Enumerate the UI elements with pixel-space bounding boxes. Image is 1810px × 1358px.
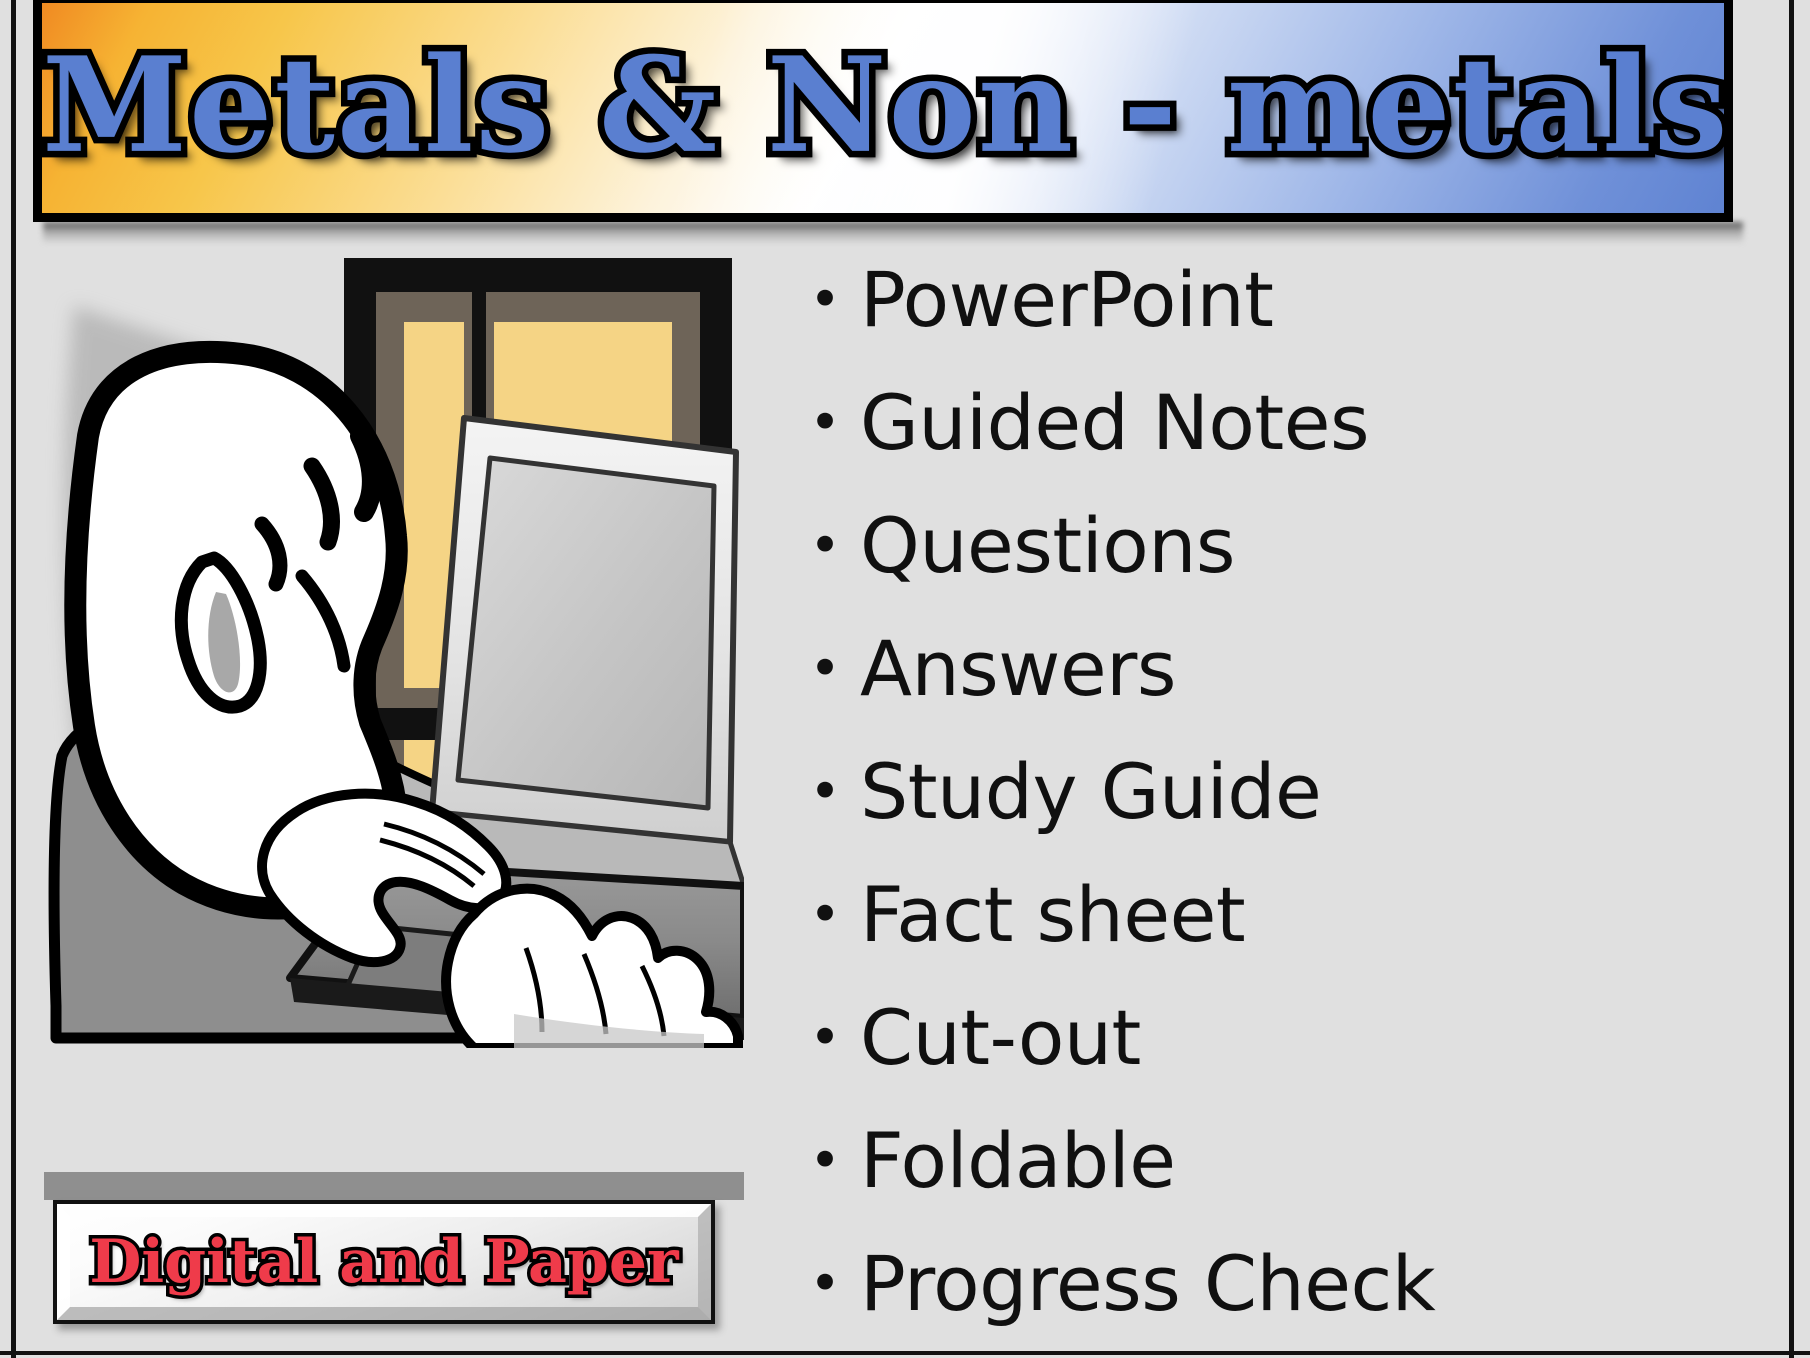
list-item: • Cut-out <box>790 984 1780 1092</box>
contents-list: • PowerPoint • Guided Notes • Questions … <box>790 222 1780 1352</box>
list-item-label: Study Guide <box>860 754 1321 830</box>
list-item-label: Fact sheet <box>860 877 1245 953</box>
page-border-bottom <box>0 1351 1810 1355</box>
list-item: • Questions <box>790 492 1780 600</box>
digital-and-paper-badge: Digital and Paper <box>53 1200 715 1324</box>
list-item: • Fact sheet <box>790 861 1780 969</box>
title-banner: Metals & Non - metals <box>33 0 1733 222</box>
list-item: • Foldable <box>790 1107 1780 1215</box>
illustration-person-typing-on-laptop <box>44 236 744 1048</box>
bullet-dot-icon: • <box>790 273 860 327</box>
list-item-label: Answers <box>860 631 1176 707</box>
list-item-label: Cut-out <box>860 1000 1141 1076</box>
list-item-label: Questions <box>860 508 1235 584</box>
list-item-label: PowerPoint <box>860 262 1273 338</box>
list-item: • Answers <box>790 615 1780 723</box>
list-item: • Guided Notes <box>790 369 1780 477</box>
desk-edge-bar <box>44 1172 744 1200</box>
poster-root: Metals & Non - metals <box>0 0 1810 1358</box>
bullet-dot-icon: • <box>790 519 860 573</box>
list-item: • Study Guide <box>790 738 1780 846</box>
bullet-dot-icon: • <box>790 1134 860 1188</box>
list-item-label: Progress Check <box>860 1246 1435 1322</box>
illustration-svg <box>44 236 744 1048</box>
bullet-dot-icon: • <box>790 396 860 450</box>
page-title: Metals & Non - metals <box>42 40 1724 171</box>
bullet-dot-icon: • <box>790 1011 860 1065</box>
page-border-right <box>1789 0 1794 1358</box>
list-item: • PowerPoint <box>790 246 1780 354</box>
list-item-label: Foldable <box>860 1123 1176 1199</box>
laptop-screen <box>458 458 714 808</box>
status-badge: Digital and Paper <box>57 1204 711 1320</box>
list-item: • Progress Check <box>790 1230 1780 1338</box>
page-border-left <box>11 0 16 1358</box>
bullet-dot-icon: • <box>790 642 860 696</box>
bullet-dot-icon: • <box>790 888 860 942</box>
list-item-label: Guided Notes <box>860 385 1369 461</box>
bullet-dot-icon: • <box>790 765 860 819</box>
bullet-dot-icon: • <box>790 1257 860 1311</box>
